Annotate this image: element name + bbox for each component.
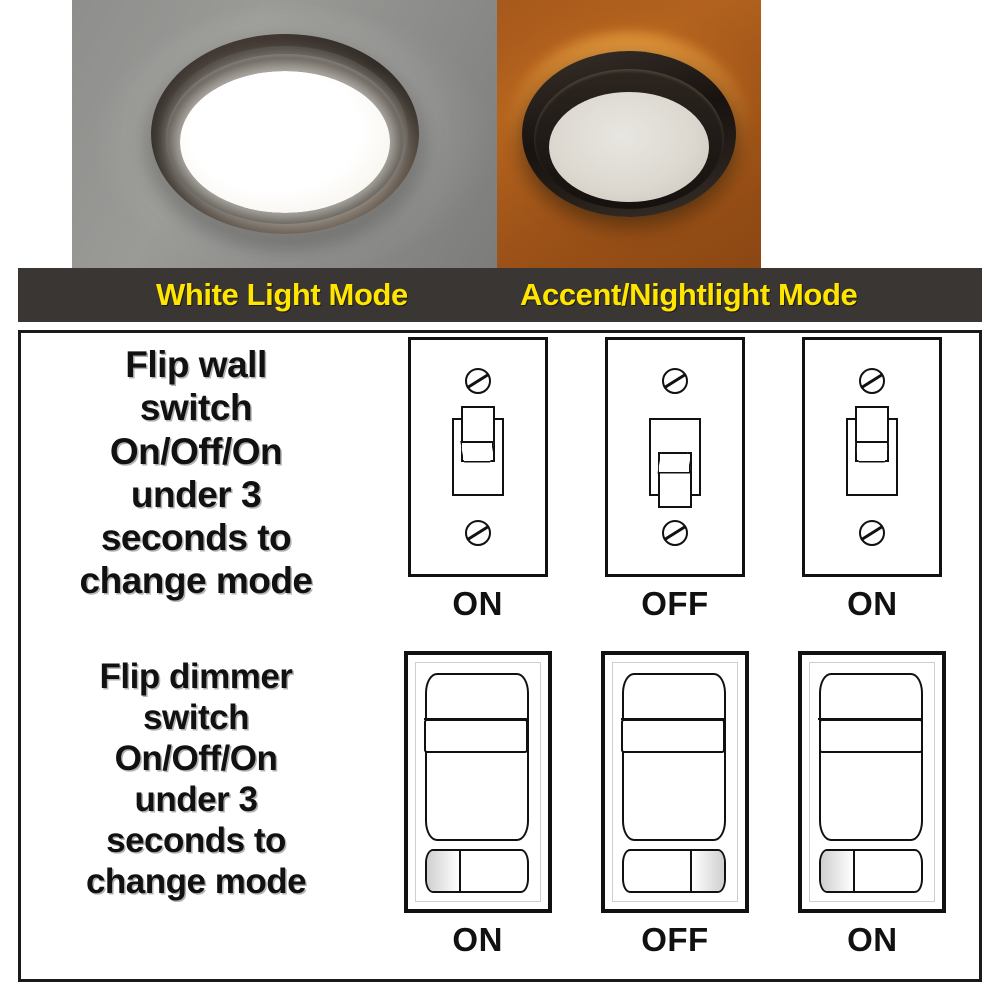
toggle-state-label: ON	[452, 585, 503, 623]
instruction-sheet: White Light Mode Accent/Nightlight Mode …	[0, 0, 1000, 1000]
accent-nightlight-photo	[497, 0, 761, 268]
toggle-switch-plate[interactable]	[408, 337, 548, 577]
screw-icon	[465, 368, 491, 394]
toggle-lever-down[interactable]	[658, 452, 692, 508]
mode-label-bar: White Light Mode Accent/Nightlight Mode	[18, 268, 982, 322]
screw-icon	[662, 368, 688, 394]
dimmer-switch-plate[interactable]	[404, 651, 552, 913]
toggle-state-label: ON	[847, 585, 898, 623]
toggle-switch-step-3: ON	[802, 337, 942, 623]
dimmer-paddle[interactable]	[819, 673, 923, 841]
dimmer-paddle[interactable]	[622, 673, 726, 841]
toggle-switch-plate[interactable]	[802, 337, 942, 577]
instruction-line: On/Off/On	[80, 430, 313, 473]
rocker-segment-left	[821, 851, 855, 891]
instruction-line: Flip dimmer	[86, 657, 306, 698]
screw-icon	[859, 520, 885, 546]
toggle-switch-step-2: OFF	[605, 337, 745, 623]
rocker-segment-left	[427, 851, 461, 891]
toggle-switch-diagrams: ON OFF	[371, 337, 979, 647]
screw-icon	[465, 520, 491, 546]
instruction-line: change mode	[80, 559, 313, 602]
dimmer-switch-step-1: ON	[404, 651, 552, 959]
dimmer-indicator-slot	[819, 719, 923, 753]
dimmer-state-label: ON	[452, 921, 503, 959]
instruction-line: Flip wall	[80, 343, 313, 386]
photo-left-spacer	[0, 0, 72, 268]
white-light-mode-label: White Light Mode	[156, 277, 408, 313]
fixture-lens-white	[180, 71, 390, 213]
dimmer-switch-step-2: OFF	[601, 651, 749, 959]
toggle-frame	[846, 418, 898, 496]
dimmer-rocker[interactable]	[425, 849, 529, 893]
instruction-line: under 3	[80, 473, 313, 516]
dimmer-rocker[interactable]	[622, 849, 726, 893]
photo-right-spacer	[761, 0, 1000, 268]
product-photo-row	[0, 0, 1000, 268]
toggle-switch-plate[interactable]	[605, 337, 745, 577]
dimmer-switch-step-3: ON	[798, 651, 946, 959]
dimmer-switch-row: Flip dimmer switch On/Off/On under 3 sec…	[21, 651, 979, 981]
dimmer-state-label: OFF	[641, 921, 708, 959]
toggle-switch-step-1: ON	[408, 337, 548, 623]
rocker-segment-right	[690, 851, 724, 891]
instruction-line: change mode	[86, 862, 306, 903]
dimmer-switch-instruction-col: Flip dimmer switch On/Off/On under 3 sec…	[21, 651, 371, 981]
white-light-photo	[72, 0, 497, 268]
dimmer-switch-diagrams: ON OFF	[371, 651, 979, 981]
screw-icon	[662, 520, 688, 546]
accent-nightlight-mode-label: Accent/Nightlight Mode	[520, 277, 857, 313]
dimmer-state-label: ON	[847, 921, 898, 959]
wall-switch-instruction: Flip wall switch On/Off/On under 3 secon…	[80, 343, 313, 603]
instruction-line: under 3	[86, 780, 306, 821]
dimmer-indicator-slot	[424, 719, 528, 753]
toggle-frame	[649, 418, 701, 496]
wall-switch-row: Flip wall switch On/Off/On under 3 secon…	[21, 337, 979, 647]
toggle-state-label: OFF	[641, 585, 708, 623]
screw-icon	[859, 368, 885, 394]
instruction-line: On/Off/On	[86, 739, 306, 780]
dimmer-switch-plate[interactable]	[798, 651, 946, 913]
dimmer-switch-instruction: Flip dimmer switch On/Off/On under 3 sec…	[86, 657, 306, 903]
instruction-panel: Flip wall switch On/Off/On under 3 secon…	[18, 330, 982, 982]
instruction-line: switch	[86, 698, 306, 739]
dimmer-indicator-slot	[621, 719, 725, 753]
toggle-lever-up[interactable]	[855, 406, 889, 462]
dimmer-rocker[interactable]	[819, 849, 923, 893]
toggle-frame	[452, 418, 504, 496]
wall-switch-instruction-col: Flip wall switch On/Off/On under 3 secon…	[21, 337, 371, 647]
dimmer-switch-plate[interactable]	[601, 651, 749, 913]
instruction-line: switch	[80, 386, 313, 429]
toggle-lever-up[interactable]	[461, 406, 495, 462]
instruction-line: seconds to	[86, 821, 306, 862]
dimmer-paddle[interactable]	[425, 673, 529, 841]
instruction-line: seconds to	[80, 516, 313, 559]
fixture-lens-amber	[549, 92, 709, 202]
